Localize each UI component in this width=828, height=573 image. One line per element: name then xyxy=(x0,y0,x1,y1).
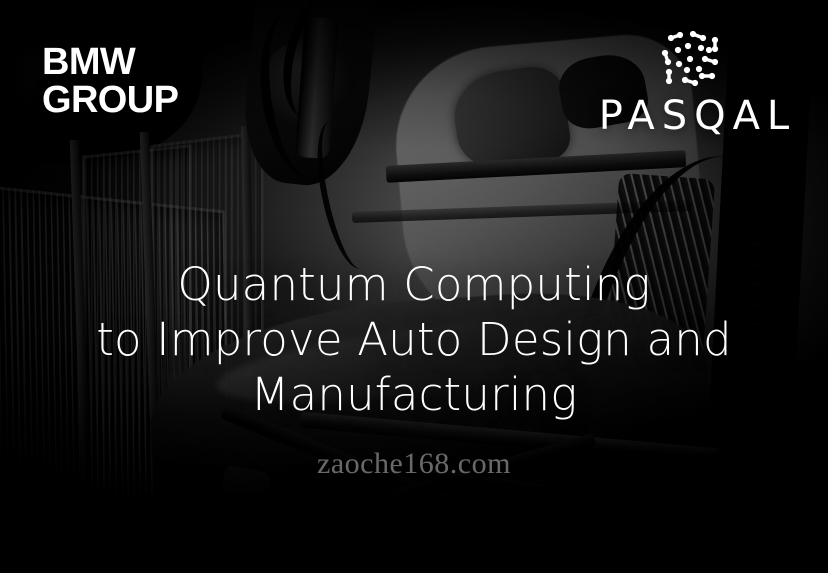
bmw-group-logo: BMW GROUP xyxy=(42,44,178,119)
content-overlay: BMW GROUP xyxy=(0,0,828,573)
pasqal-logo: PASQAL xyxy=(586,26,802,136)
promo-slide: BMW GROUP xyxy=(0,0,828,573)
qubit-atom-array-icon xyxy=(657,26,731,92)
bmw-logo-line-1: BMW xyxy=(42,44,178,82)
watermark: zaoche168.com xyxy=(0,447,828,481)
pasqal-wordmark: PASQAL xyxy=(592,96,796,136)
headline-line-1: Quantum Computing xyxy=(0,258,828,313)
page-title: Quantum Computing to Improve Auto Design… xyxy=(0,258,828,423)
bmw-logo-line-2: GROUP xyxy=(42,82,178,120)
headline-line-2: to Improve Auto Design and xyxy=(0,313,828,368)
headline-line-3: Manufacturing xyxy=(0,368,828,423)
